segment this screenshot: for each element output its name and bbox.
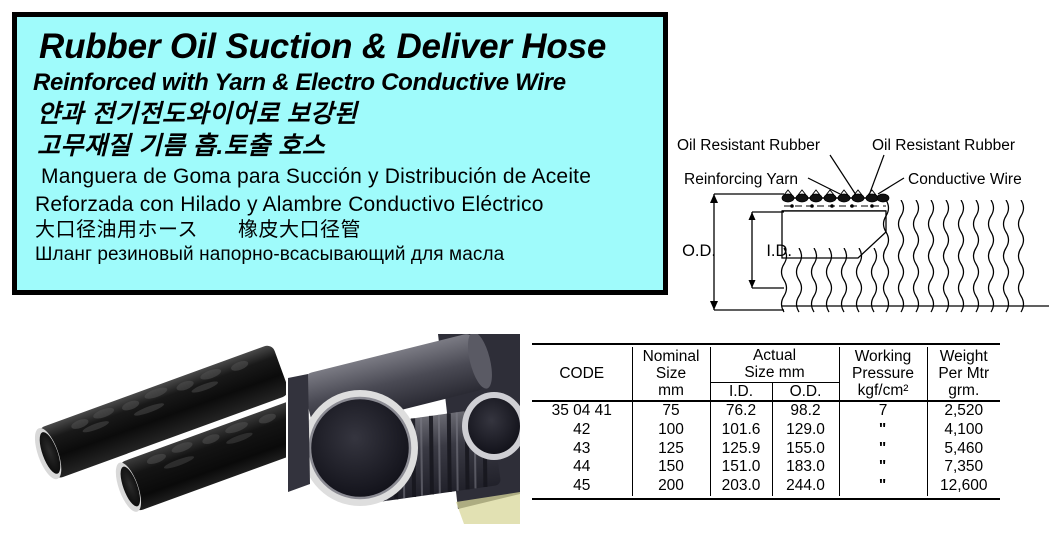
header-actual-size-line1: Actual [711, 347, 839, 364]
product-title-spanish-line2: Reforzada con Hilado y Alambre Conductiv… [35, 194, 663, 215]
cell-working-pressure-ditto: " [840, 440, 927, 459]
table-data-block: 35 04 41 42 43 44 45 75 100 125 150 200 … [532, 401, 1000, 496]
column-od-values: 98.2 129.0 155.0 183.0 244.0 [772, 401, 839, 496]
table-row: 43 [532, 440, 632, 459]
header-weight: Weight Per Mtr grm. [927, 347, 1000, 400]
specification-table: CODE Nominal Size mm Actual Size mm Work… [532, 343, 1000, 500]
product-title-japanese: 大口径油用ホース [35, 219, 198, 241]
cell-id: 151.0 [711, 458, 772, 477]
label-oil-resistant-rubber-right: Oil Resistant Rubber [872, 137, 1015, 154]
header-actual-size-line2: Size mm [711, 364, 839, 381]
header-working-pressure-line2: Pressure [840, 365, 927, 382]
cell-working-pressure: 7 [840, 402, 927, 421]
column-nominal-values: 75 100 125 150 200 [632, 401, 710, 496]
header-actual-od: O.D. [772, 382, 839, 400]
cell-weight: 12,600 [928, 477, 1001, 496]
cell-id: 76.2 [711, 402, 772, 421]
product-title-chinese: 橡皮大口径管 [238, 219, 361, 241]
cell-nominal: 150 [633, 458, 710, 477]
label-inner-diameter: I.D. [766, 242, 792, 260]
product-photo-corrugated-hoses [288, 334, 520, 539]
column-working-pressure-values: 7 " " " " [839, 401, 927, 496]
table-row: 35 04 41 [532, 402, 632, 421]
header-working-pressure-line3: kgf/cm² [840, 382, 927, 399]
product-title-russian: Шланг резиновый напорно-всасывающий для … [35, 245, 663, 264]
cell-id: 101.6 [711, 421, 772, 440]
cell-weight: 5,460 [928, 440, 1001, 459]
product-title-spanish-line1: Manguera de Goma para Succión y Distribu… [41, 166, 663, 187]
cell-nominal: 75 [633, 402, 710, 421]
header-code: CODE [532, 347, 632, 400]
header-weight-line3: grm. [928, 382, 1001, 399]
cell-working-pressure-ditto: " [840, 477, 927, 496]
header-weight-line1: Weight [928, 348, 1001, 365]
cell-weight: 7,350 [928, 458, 1001, 477]
header-working-pressure-line1: Working [840, 348, 927, 365]
header-actual-id: I.D. [710, 382, 772, 400]
header-nominal-size-line1: Nominal [633, 348, 710, 365]
cell-working-pressure-ditto: " [840, 421, 927, 440]
column-weight-values: 2,520 4,100 5,460 7,350 12,600 [927, 401, 1000, 496]
cell-nominal: 200 [633, 477, 710, 496]
header-weight-line2: Per Mtr [928, 365, 1001, 382]
product-title-banner: Rubber Oil Suction & Deliver Hose Reinfo… [12, 12, 668, 295]
label-conductive-wire: Conductive Wire [908, 171, 1022, 188]
cell-weight: 2,520 [928, 402, 1001, 421]
column-code-values: 35 04 41 42 43 44 45 [532, 401, 632, 496]
cell-id: 125.9 [711, 440, 772, 459]
table-row: 44 [532, 458, 632, 477]
cell-nominal: 125 [633, 440, 710, 459]
label-reinforcing-yarn: Reinforcing Yarn [684, 171, 798, 188]
column-id-values: 76.2 101.6 125.9 151.0 203.0 [710, 401, 772, 496]
cell-id: 203.0 [711, 477, 772, 496]
header-working-pressure: Working Pressure kgf/cm² [839, 347, 927, 400]
header-actual-size: Actual Size mm [710, 347, 839, 382]
header-nominal-size: Nominal Size mm [632, 347, 710, 400]
product-title-korean-line2: 고무재질 기름 흡.토출 호스 [37, 134, 663, 159]
hose-construction-diagram: Oil Resistant Rubber Oil Resistant Rubbe… [672, 128, 1049, 318]
table-row: 45 [532, 477, 632, 496]
table-header-row-1: CODE Nominal Size mm Actual Size mm Work… [532, 347, 1000, 382]
cell-nominal: 100 [633, 421, 710, 440]
header-nominal-size-line3: mm [633, 382, 710, 399]
product-title-korean-line1: 얀과 전기전도와이어로 보강된 [37, 102, 663, 127]
cell-od: 244.0 [773, 477, 839, 496]
cell-weight: 4,100 [928, 421, 1001, 440]
cell-working-pressure-ditto: " [840, 458, 927, 477]
label-oil-resistant-rubber-left: Oil Resistant Rubber [677, 137, 820, 154]
cell-od: 183.0 [773, 458, 839, 477]
product-title-english: Rubber Oil Suction & Deliver Hose [39, 29, 663, 64]
table-bottom-rule [532, 496, 1000, 499]
product-subtitle-english: Reinforced with Yarn & Electro Conductiv… [33, 71, 663, 95]
specification-table-container: CODE Nominal Size mm Actual Size mm Work… [532, 343, 1000, 513]
table-row: 42 [532, 421, 632, 440]
label-outer-diameter: O.D. [682, 242, 716, 260]
header-nominal-size-line2: Size [633, 365, 710, 382]
product-photo-straight-hoses [18, 338, 286, 533]
cell-od: 129.0 [773, 421, 839, 440]
cell-od: 98.2 [773, 402, 839, 421]
product-title-cjk: 大口径油用ホース橡皮大口径管 [35, 220, 663, 240]
cell-od: 155.0 [773, 440, 839, 459]
